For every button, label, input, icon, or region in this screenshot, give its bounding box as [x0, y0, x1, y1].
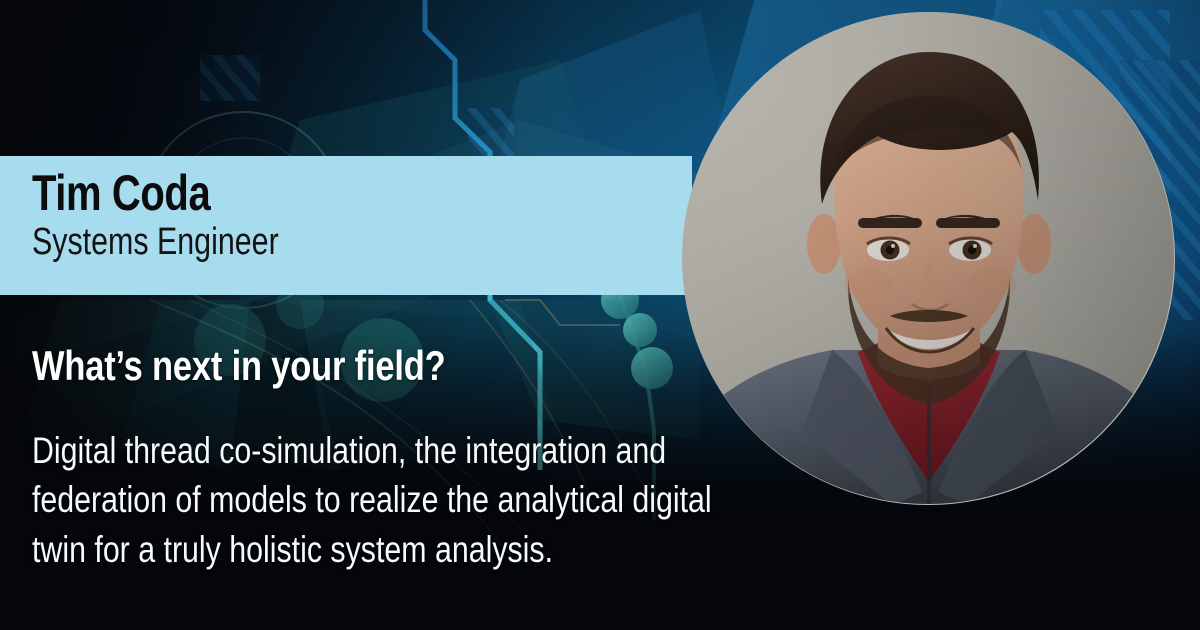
speaker-name: Tim Coda: [32, 168, 279, 219]
speaker-profile-card: Tim Coda Systems Engineer What’s next in…: [0, 0, 1200, 630]
name-banner-text: Tim Coda Systems Engineer: [32, 168, 340, 263]
portrait-illustration: [682, 12, 1175, 505]
speaker-portrait: [682, 12, 1175, 505]
answer-text: Digital thread co-simulation, the integr…: [32, 426, 737, 574]
speaker-role: Systems Engineer: [32, 223, 279, 263]
answer-line: Digital thread co-simulation, the integr…: [32, 426, 737, 475]
question-headline: What’s next in your field?: [32, 344, 655, 388]
answer-line: twin for a truly holistic system analysi…: [32, 525, 737, 574]
quote-block: What’s next in your field? Digital threa…: [32, 344, 792, 574]
name-banner: Tim Coda Systems Engineer: [0, 156, 692, 295]
answer-line: federation of models to realize the anal…: [32, 475, 737, 524]
